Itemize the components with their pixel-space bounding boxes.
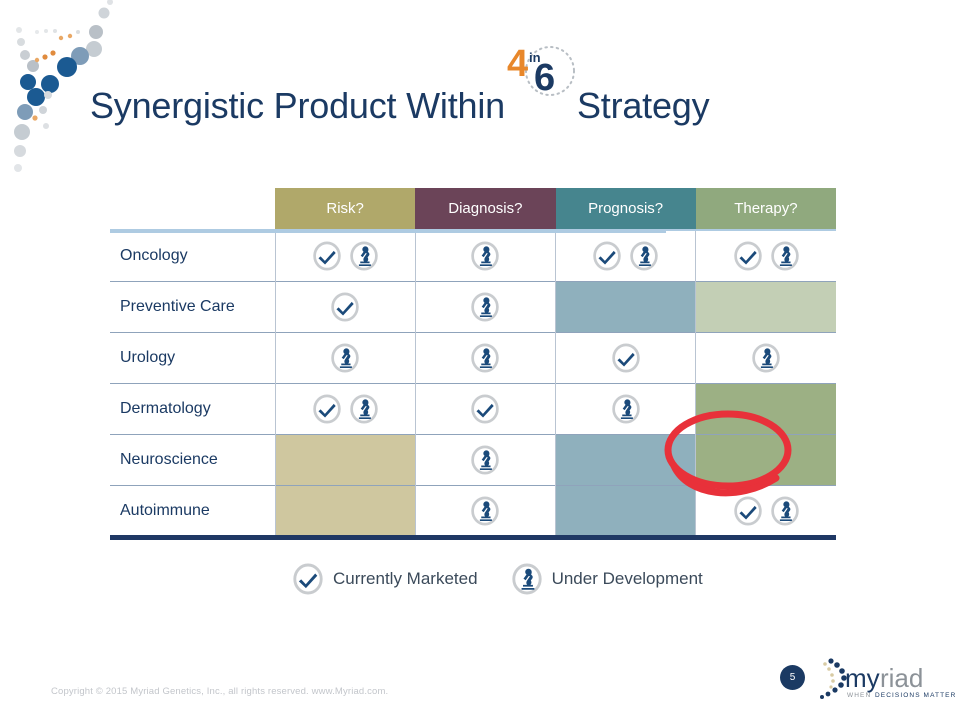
row-label-1: Preventive Care xyxy=(110,281,275,332)
legend-item-1: Under Development xyxy=(511,563,703,595)
header-underline-rule xyxy=(110,229,666,233)
svg-text:4: 4 xyxy=(507,43,528,85)
table-body: OncologyPreventive CareUrologyDermatolog… xyxy=(110,230,836,536)
row-label-0: Oncology xyxy=(110,230,275,281)
copyright-text: Copyright © 2015 Myriad Genetics, Inc., … xyxy=(51,686,388,697)
matrix-cell[interactable] xyxy=(696,281,836,332)
microscope-icon xyxy=(349,241,379,271)
legend-label: Currently Marketed xyxy=(333,569,478,589)
microscope-icon xyxy=(470,445,500,475)
check-icon xyxy=(312,241,342,271)
check-icon xyxy=(330,292,360,322)
microscope-icon xyxy=(770,241,800,271)
cell-icon-group xyxy=(276,241,415,271)
table-row: Dermatology xyxy=(110,383,836,434)
cell-icon-group xyxy=(416,445,555,475)
check-icon xyxy=(733,496,763,526)
matrix-cell[interactable] xyxy=(275,332,415,383)
table-row: Urology xyxy=(110,332,836,383)
matrix-cell[interactable] xyxy=(415,230,555,281)
matrix-cell[interactable] xyxy=(556,485,696,536)
myriad-logo: my riad WHEN DECISIONS MATTER xyxy=(815,655,955,703)
check-icon xyxy=(592,241,622,271)
legend-label: Under Development xyxy=(552,569,703,589)
cell-icon-group xyxy=(416,496,555,526)
table-bottom-rule xyxy=(110,535,836,540)
table-header: Risk?Diagnosis?Prognosis?Therapy? xyxy=(110,188,836,230)
table-header-row: Risk?Diagnosis?Prognosis?Therapy? xyxy=(110,188,836,230)
matrix-cell[interactable] xyxy=(696,434,836,485)
matrix-cell[interactable] xyxy=(275,230,415,281)
svg-text:WHEN: WHEN xyxy=(847,692,871,699)
matrix-cell[interactable] xyxy=(556,434,696,485)
matrix-cell[interactable] xyxy=(556,332,696,383)
column-header-label: Therapy? xyxy=(734,200,797,217)
slide-canvas: Synergistic Product Within 4 in 6 Strate… xyxy=(0,0,960,720)
row-label-4: Neuroscience xyxy=(110,434,275,485)
matrix-cell[interactable] xyxy=(556,281,696,332)
matrix-cell[interactable] xyxy=(415,485,555,536)
microscope-icon xyxy=(611,394,641,424)
microscope-icon xyxy=(470,241,500,271)
cell-icon-group xyxy=(416,241,555,271)
check-icon xyxy=(312,394,342,424)
cell-icon-group xyxy=(416,394,555,424)
cell-icon-group xyxy=(416,343,555,373)
matrix-cell[interactable] xyxy=(696,485,836,536)
page-number-badge: 5 xyxy=(780,665,805,690)
four-in-six-logo: 4 in 6 xyxy=(505,72,577,118)
column-header-3: Therapy? xyxy=(696,188,836,230)
cell-icon-group xyxy=(276,292,415,322)
microscope-icon xyxy=(470,292,500,322)
corner-cell xyxy=(110,188,275,230)
matrix-cell[interactable] xyxy=(415,332,555,383)
microscope-icon xyxy=(470,343,500,373)
title-text-after: Strategy xyxy=(577,85,709,127)
page-title: Synergistic Product Within 4 in 6 Strate… xyxy=(90,72,709,127)
cell-icon-group xyxy=(556,394,695,424)
legend-item-0: Currently Marketed xyxy=(292,563,478,595)
column-header-label: Prognosis? xyxy=(588,200,663,217)
cell-icon-group xyxy=(556,241,695,271)
microscope-icon xyxy=(629,241,659,271)
svg-text:my: my xyxy=(845,663,880,693)
cell-icon-group xyxy=(696,343,836,373)
microscope-icon xyxy=(470,496,500,526)
strategy-matrix: Risk?Diagnosis?Prognosis?Therapy? Oncolo… xyxy=(110,188,836,536)
legend: Currently MarketedUnder Development xyxy=(292,563,703,595)
strategy-matrix-table: Risk?Diagnosis?Prognosis?Therapy? Oncolo… xyxy=(110,188,836,536)
microscope-icon xyxy=(751,343,781,373)
matrix-cell[interactable] xyxy=(556,383,696,434)
matrix-cell[interactable] xyxy=(556,230,696,281)
matrix-cell[interactable] xyxy=(275,383,415,434)
column-header-label: Diagnosis? xyxy=(448,200,522,217)
table-row: Oncology xyxy=(110,230,836,281)
cell-icon-group xyxy=(276,394,415,424)
cell-icon-group xyxy=(276,343,415,373)
matrix-cell[interactable] xyxy=(696,383,836,434)
matrix-cell[interactable] xyxy=(415,383,555,434)
table-row: Autoimmune xyxy=(110,485,836,536)
check-icon xyxy=(292,563,324,595)
check-icon xyxy=(470,394,500,424)
table-row: Preventive Care xyxy=(110,281,836,332)
svg-text:6: 6 xyxy=(534,57,555,98)
microscope-icon xyxy=(770,496,800,526)
matrix-cell[interactable] xyxy=(696,332,836,383)
microscope-icon xyxy=(349,394,379,424)
cell-icon-group xyxy=(696,241,836,271)
column-header-2: Prognosis? xyxy=(556,188,696,230)
matrix-cell[interactable] xyxy=(275,434,415,485)
column-header-label: Risk? xyxy=(326,200,364,217)
table-row: Neuroscience xyxy=(110,434,836,485)
matrix-cell[interactable] xyxy=(415,281,555,332)
microscope-icon xyxy=(330,343,360,373)
row-label-3: Dermatology xyxy=(110,383,275,434)
row-label-2: Urology xyxy=(110,332,275,383)
column-header-1: Diagnosis? xyxy=(415,188,555,230)
check-icon xyxy=(733,241,763,271)
check-icon xyxy=(611,343,641,373)
cell-icon-group xyxy=(696,496,836,526)
column-header-0: Risk? xyxy=(275,188,415,230)
cell-icon-group xyxy=(416,292,555,322)
svg-text:DECISIONS MATTER: DECISIONS MATTER xyxy=(875,692,955,699)
matrix-cell[interactable] xyxy=(275,485,415,536)
cell-icon-group xyxy=(556,343,695,373)
matrix-cell[interactable] xyxy=(696,230,836,281)
microscope-icon xyxy=(511,563,543,595)
matrix-cell[interactable] xyxy=(275,281,415,332)
svg-text:riad: riad xyxy=(880,663,923,693)
row-label-5: Autoimmune xyxy=(110,485,275,536)
matrix-cell[interactable] xyxy=(415,434,555,485)
title-text-before: Synergistic Product Within xyxy=(90,85,505,127)
